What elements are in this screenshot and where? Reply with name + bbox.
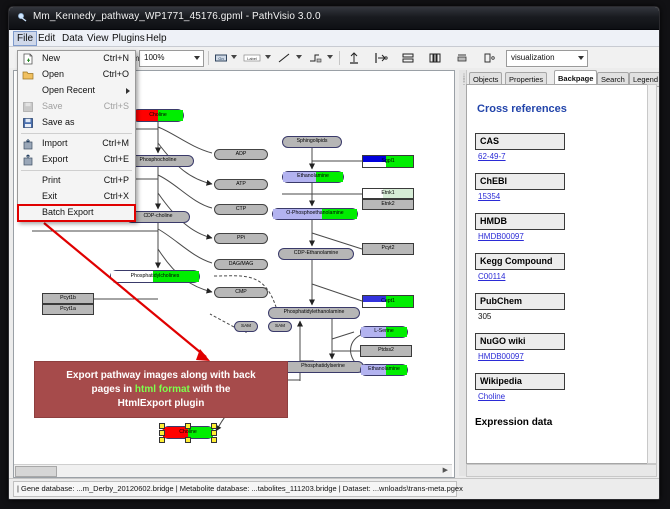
same-width-icon[interactable]	[455, 51, 469, 65]
menu-edit[interactable]: Edit	[34, 31, 59, 46]
save-icon	[22, 101, 34, 113]
save-as-icon	[22, 117, 34, 129]
xref-source-label: HMDB	[480, 216, 507, 226]
menu-item-label: Import	[42, 138, 68, 148]
export-icon	[22, 154, 34, 166]
menu-separator-1	[21, 133, 132, 134]
svg-text:Gn: Gn	[218, 56, 223, 61]
gene-product-icon[interactable]: Gn	[214, 51, 228, 65]
zoom-value: 100%	[144, 53, 164, 62]
file-menu-batch-export[interactable]: Batch Export	[18, 205, 135, 221]
xref-value-chebi[interactable]: 15354	[478, 192, 500, 201]
open-folder-icon	[22, 69, 34, 81]
menu-separator-2	[21, 170, 132, 171]
line-dropdown-icon[interactable]	[296, 55, 302, 59]
label-icon[interactable]: Label	[243, 51, 261, 65]
pathvisio-app-icon	[17, 12, 29, 24]
file-menu-export[interactable]: Export Ctrl+E	[18, 152, 135, 168]
toolbar-separator-2	[339, 51, 340, 65]
scroll-right-icon[interactable]: ▶	[443, 468, 448, 474]
file-menu-open-recent[interactable]: Open Recent	[18, 83, 135, 99]
menu-help[interactable]: Help	[142, 31, 171, 46]
xref-source-kegg: Kegg Compound	[475, 253, 565, 270]
chevron-right-icon	[126, 88, 130, 94]
pathvisio-window: Mm_Kennedy_pathway_WP1771_45176.gpml - P…	[8, 6, 660, 500]
xref-value-cas[interactable]: 62-49-7	[478, 152, 506, 161]
side-panel: ⋮⋮⋮ Objects Properties Backpage Search L…	[459, 70, 655, 476]
toolbar-separator	[208, 51, 209, 65]
menu-item-accel: Ctrl+O	[103, 69, 129, 79]
menu-item-label: Save	[42, 101, 63, 111]
file-menu-new[interactable]: New Ctrl+N	[18, 51, 135, 67]
xref-value-nugo[interactable]: HMDB00097	[478, 352, 524, 361]
import-icon	[22, 138, 34, 150]
gene-product-dropdown-icon[interactable]	[231, 55, 237, 59]
menu-item-label: New	[42, 53, 60, 63]
xref-value-wikipedia[interactable]: Choline	[478, 392, 505, 401]
menu-item-label: Exit	[42, 191, 57, 201]
xref-source-label: CAS	[480, 136, 499, 146]
xref-source-wikipedia: Wikipedia	[475, 373, 565, 390]
xref-value-pubchem: 305	[478, 312, 491, 321]
svg-text:Label: Label	[247, 56, 257, 61]
menu-item-label: Export	[42, 154, 68, 164]
xref-value-kegg[interactable]: C00114	[478, 272, 505, 281]
menu-item-label: Open Recent	[42, 85, 95, 95]
visualization-combo[interactable]: visualization	[506, 50, 588, 67]
file-menu-save-as[interactable]: Save as	[18, 115, 135, 131]
xref-source-hmdb: HMDB	[475, 213, 565, 230]
callout-line2-b: with the	[190, 384, 231, 395]
menu-item-label: Print	[42, 175, 61, 185]
stack-center-icon[interactable]	[401, 51, 415, 65]
screenshot-root: Mm_Kennedy_pathway_WP1771_45176.gpml - P…	[0, 0, 670, 509]
interaction-icon[interactable]	[308, 51, 322, 65]
zoom-combo[interactable]: 100%	[139, 50, 204, 67]
menu-item-label: Save as	[42, 117, 75, 127]
scrollbar-thumb[interactable]	[15, 466, 57, 477]
xref-value-hmdb[interactable]: HMDB00097	[478, 232, 524, 241]
file-menu-popup[interactable]: New Ctrl+N Open Ctrl+O Open Recent Save	[17, 50, 136, 222]
line-icon[interactable]	[277, 51, 291, 65]
distribute-icon[interactable]	[428, 51, 442, 65]
xref-source-label: Kegg Compound	[480, 256, 553, 266]
xref-source-label: Wikipedia	[480, 376, 522, 386]
visualization-value: visualization	[511, 53, 555, 62]
menu-item-accel: Ctrl+X	[104, 191, 129, 201]
menu-item-label: Open	[42, 69, 64, 79]
xref-source-cas: CAS	[475, 133, 565, 150]
window-title: Mm_Kennedy_pathway_WP1771_45176.gpml - P…	[33, 11, 321, 22]
expression-data-heading: Expression data	[475, 417, 552, 428]
callout-highlight: html format	[135, 384, 190, 395]
xref-source-chebi: ChEBI	[475, 173, 565, 190]
new-file-icon	[22, 53, 34, 65]
statusbar: | Gene database: ...m_Derby_20120602.bri…	[9, 478, 659, 499]
chevron-down-icon-2	[578, 56, 584, 60]
xref-source-label: PubChem	[480, 296, 522, 306]
cross-references-heading: Cross references	[477, 103, 567, 115]
file-menu-print[interactable]: Print Ctrl+P	[18, 173, 135, 189]
callout-line3: HtmlExport plugin	[118, 398, 205, 409]
file-menu-exit[interactable]: Exit Ctrl+X	[18, 189, 135, 205]
callout-line1: Export pathway images along with back	[66, 370, 256, 381]
align-left-icon[interactable]	[374, 51, 388, 65]
callout-line2-a: pages in	[92, 384, 135, 395]
align-top-icon[interactable]	[347, 51, 361, 65]
menu-item-accel: Ctrl+E	[104, 154, 129, 164]
canvas-horizontal-scrollbar[interactable]: ◀ ▶	[14, 464, 452, 477]
menubar: File Edit Data View Plugins Help	[9, 30, 659, 47]
backpage-panel: Cross references CAS 62-49-7 ChEBI 15354…	[466, 84, 649, 464]
callout-text: Export pathway images along with back pa…	[66, 369, 256, 411]
file-menu-save: Save Ctrl+S	[18, 99, 135, 115]
menu-item-label: Batch Export	[42, 207, 94, 217]
menu-item-accel: Ctrl+N	[103, 53, 129, 63]
backpage-vertical-scrollbar[interactable]	[647, 84, 657, 464]
file-menu-open[interactable]: Open Ctrl+O	[18, 67, 135, 83]
side-panel-tabs: Objects Properties Backpage Search Legen…	[466, 70, 655, 85]
window-titlebar: Mm_Kennedy_pathway_WP1771_45176.gpml - P…	[9, 7, 659, 30]
same-height-icon[interactable]	[482, 51, 496, 65]
menu-item-accel: Ctrl+P	[104, 175, 129, 185]
statusbar-field: | Gene database: ...m_Derby_20120602.bri…	[13, 481, 457, 497]
xref-source-label: ChEBI	[480, 176, 507, 186]
menu-item-accel: Ctrl+M	[102, 138, 129, 148]
menu-item-accel: Ctrl+S	[104, 101, 129, 111]
backpage-horizontal-scrollbar[interactable]	[466, 464, 657, 477]
label-dropdown-icon[interactable]	[265, 55, 271, 59]
annotation-callout: Export pathway images along with back pa…	[34, 361, 288, 418]
xref-source-label: NuGO wiki	[480, 336, 526, 346]
xref-source-nugo: NuGO wiki	[475, 333, 565, 350]
interaction-dropdown-icon[interactable]	[327, 55, 333, 59]
chevron-down-icon	[194, 56, 200, 60]
statusbar-text: | Gene database: ...m_Derby_20120602.bri…	[17, 484, 463, 493]
xref-source-pubchem: PubChem	[475, 293, 565, 310]
file-menu-import[interactable]: Import Ctrl+M	[18, 136, 135, 152]
